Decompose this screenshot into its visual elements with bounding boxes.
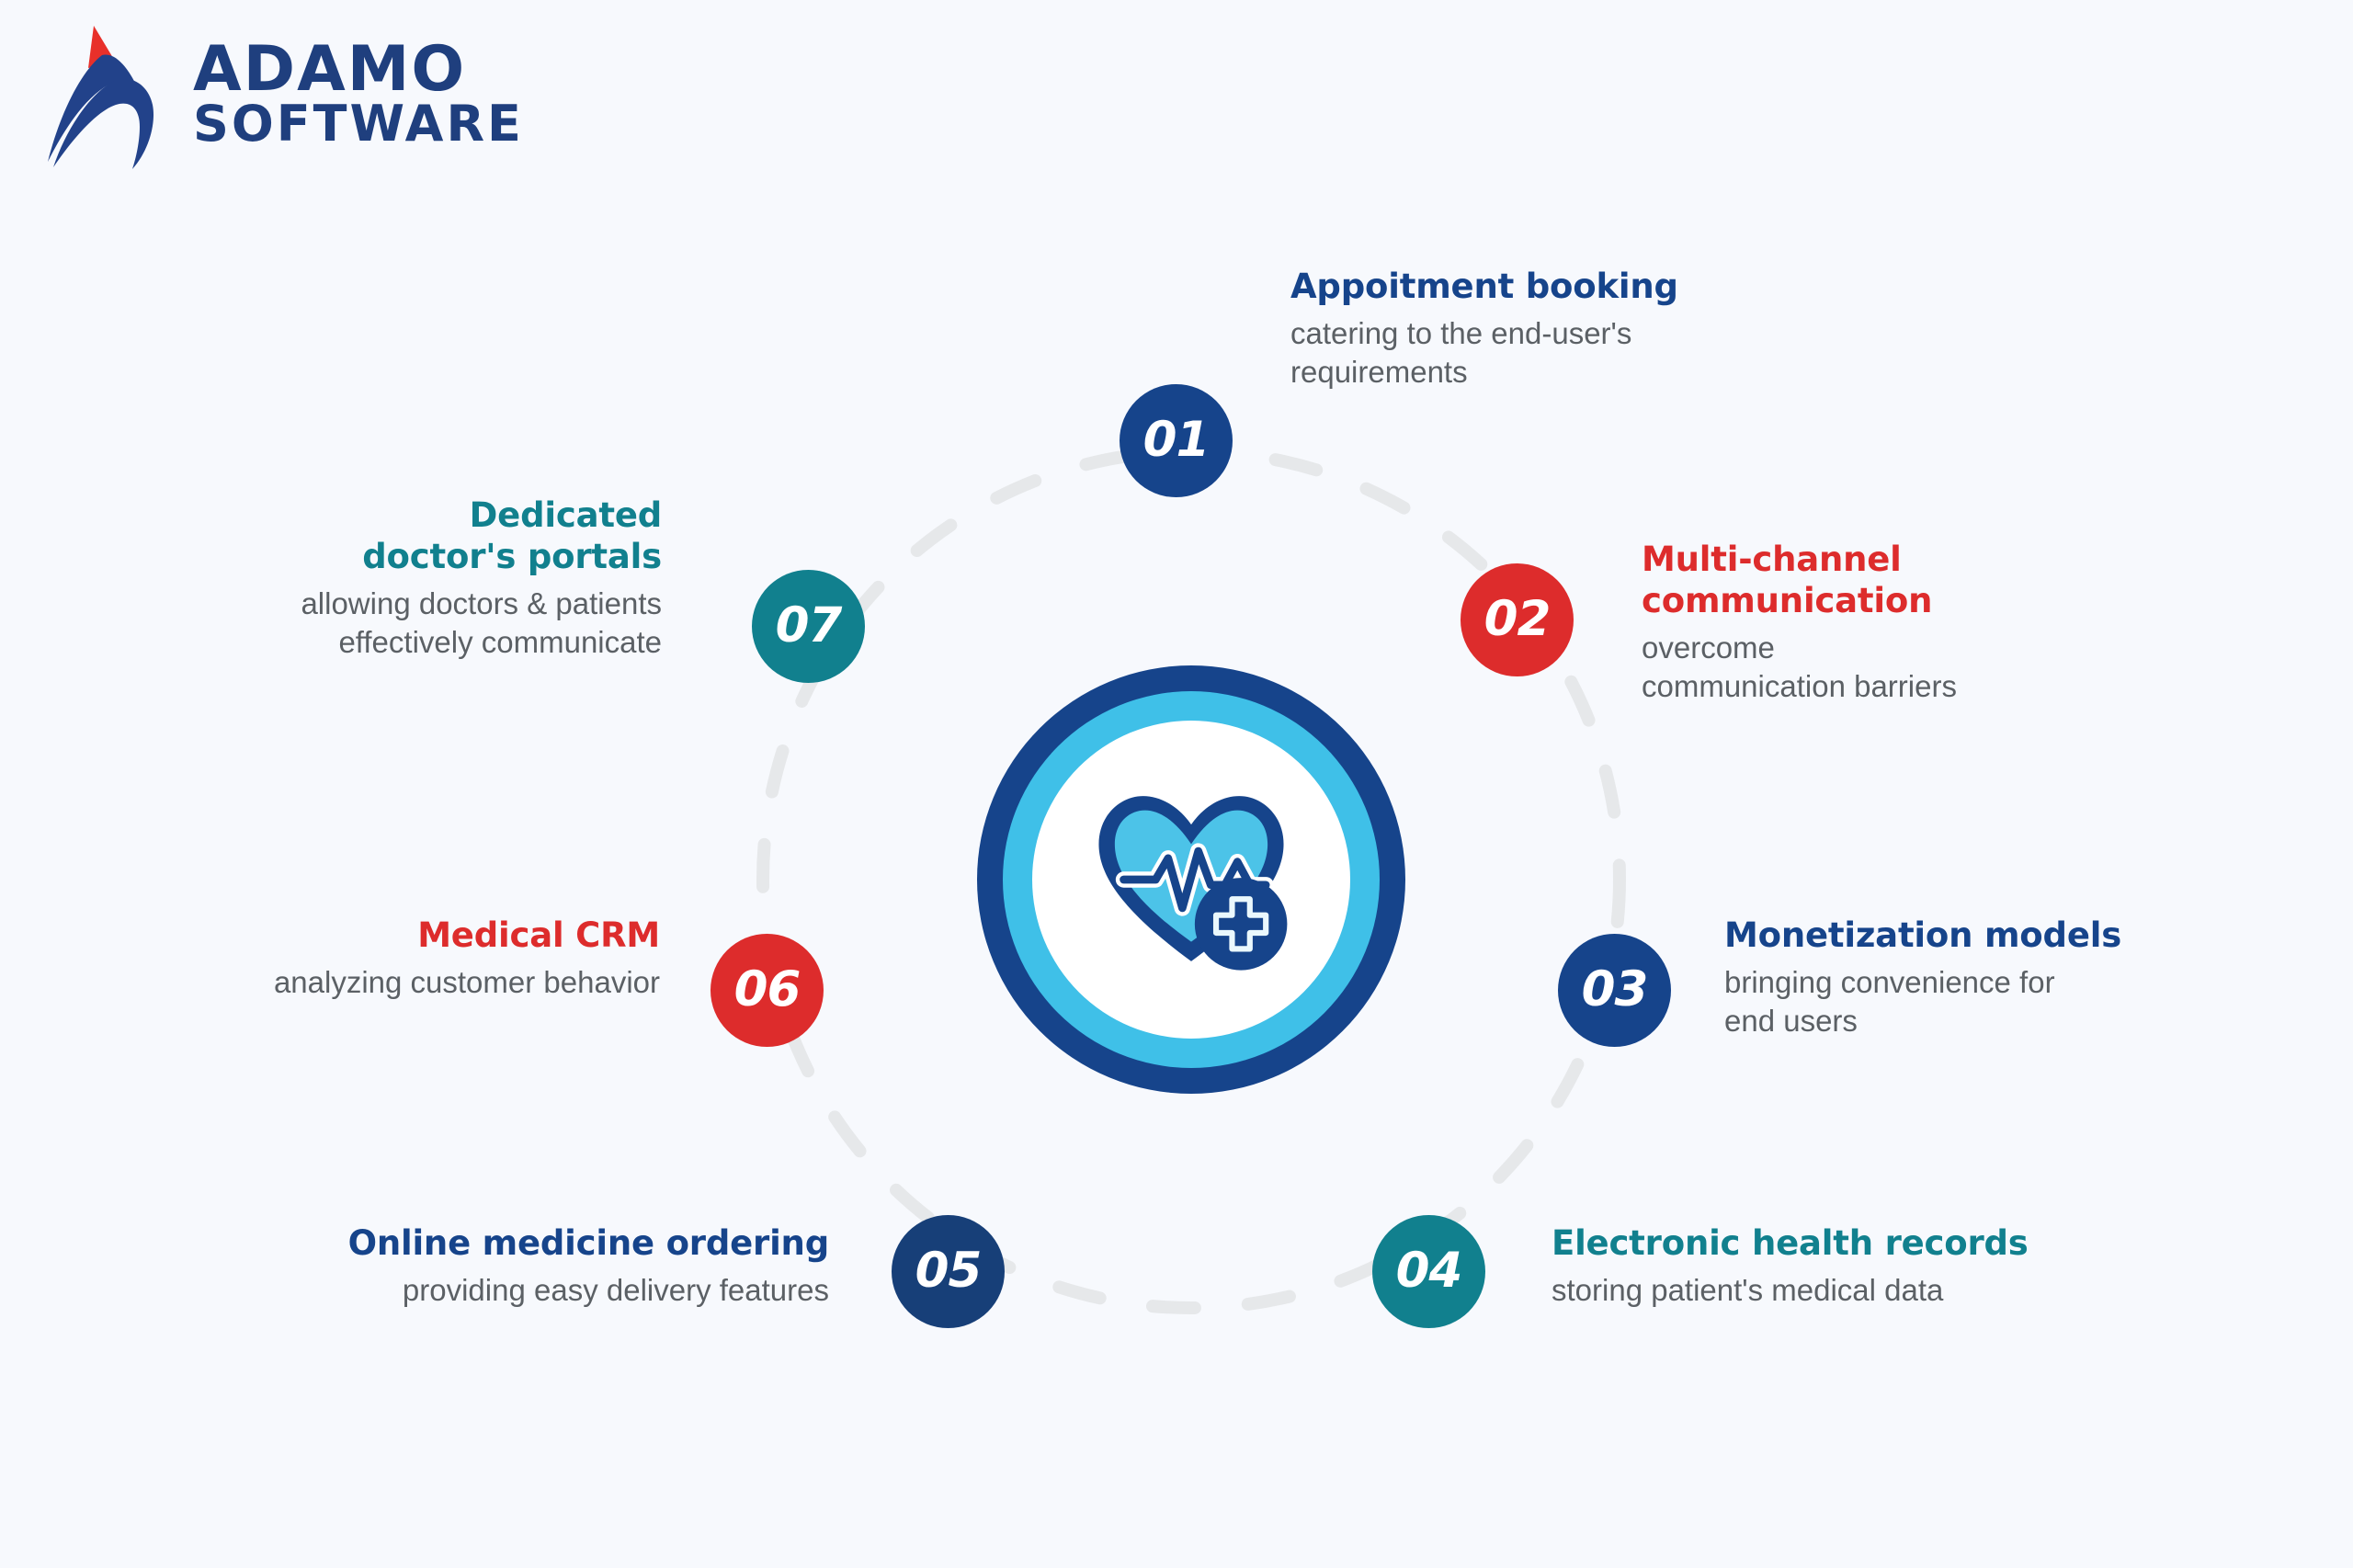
item-title-06: Medical CRM — [99, 915, 660, 956]
item-block-03: Monetization models bringing convenience… — [1724, 915, 2239, 1041]
item-block-04: Electronic health records storing patien… — [1552, 1222, 2140, 1310]
item-block-06: Medical CRM analyzing customer behavior — [99, 915, 660, 1002]
step-number-03: 03 — [1582, 961, 1648, 1017]
item-title-07: Dedicated doctor's portals — [129, 494, 662, 577]
step-badge-05[interactable]: 05 — [892, 1215, 1005, 1328]
item-block-05: Online medicine ordering providing easy … — [204, 1222, 829, 1310]
item-block-02: Multi-channel communication overcome com… — [1642, 539, 2156, 707]
step-number-04: 04 — [1396, 1243, 1462, 1299]
step-badge-03[interactable]: 03 — [1558, 934, 1671, 1047]
item-desc-01: catering to the end-user's requirements — [1290, 314, 1860, 392]
step-number-05: 05 — [915, 1243, 982, 1299]
step-number-06: 06 — [734, 961, 801, 1017]
center-inner-ring — [1003, 691, 1380, 1068]
center-hub — [977, 665, 1405, 1094]
item-desc-03: bringing convenience for end users — [1724, 963, 2239, 1040]
step-number-02: 02 — [1484, 591, 1551, 647]
center-white-disc — [1032, 721, 1350, 1039]
item-title-03: Monetization models — [1724, 915, 2239, 956]
item-block-01: Appoitment booking catering to the end-u… — [1290, 266, 1860, 392]
item-title-05: Online medicine ordering — [204, 1222, 829, 1264]
item-desc-05: providing easy delivery features — [204, 1271, 829, 1310]
item-title-02: Multi-channel communication — [1642, 539, 2156, 621]
item-desc-02: overcome communication barriers — [1642, 629, 2156, 706]
item-desc-04: storing patient's medical data — [1552, 1271, 2140, 1310]
step-badge-02[interactable]: 02 — [1461, 563, 1574, 676]
item-title-01: Appoitment booking — [1290, 266, 1860, 307]
item-title-04: Electronic health records — [1552, 1222, 2140, 1264]
circular-infographic: 01 Appoitment booking catering to the en… — [0, 0, 2353, 1568]
step-badge-07[interactable]: 07 — [752, 570, 865, 683]
item-desc-07: allowing doctors & patients effectively … — [129, 585, 662, 662]
step-number-01: 01 — [1143, 412, 1210, 468]
item-block-07: Dedicated doctor's portals allowing doct… — [129, 494, 662, 663]
step-badge-04[interactable]: 04 — [1372, 1215, 1485, 1328]
item-desc-06: analyzing customer behavior — [99, 963, 660, 1002]
heart-pulse-plus-icon — [1085, 773, 1298, 986]
step-badge-06[interactable]: 06 — [710, 934, 824, 1047]
step-number-07: 07 — [776, 597, 842, 653]
step-badge-01[interactable]: 01 — [1120, 384, 1233, 497]
